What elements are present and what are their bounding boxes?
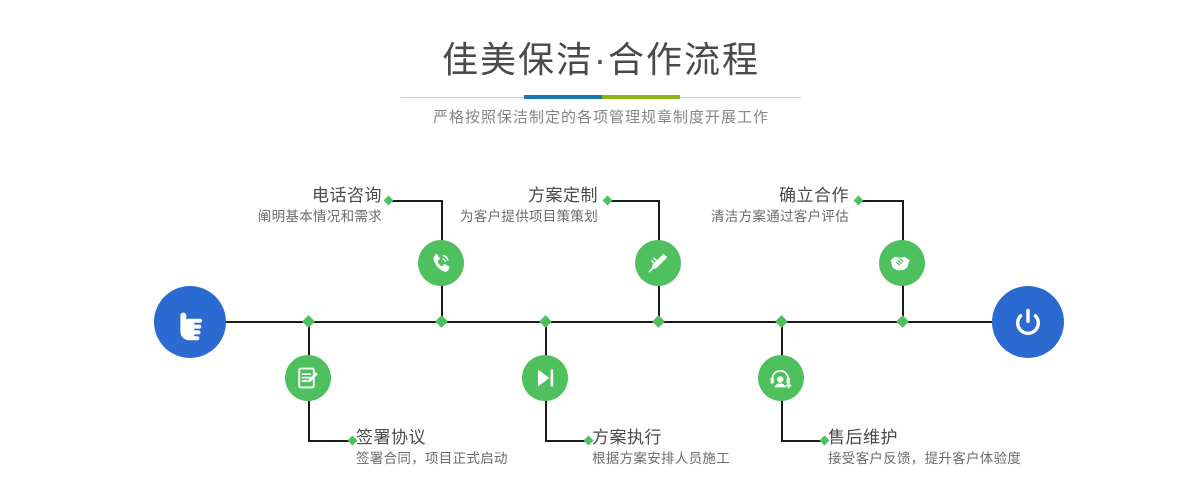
step-title-5: 确立合作 — [620, 185, 849, 207]
step-title-2: 签署协议 — [356, 427, 508, 449]
connector-horizontal-step-5 — [858, 200, 903, 202]
axis-marker-step-5 — [896, 315, 909, 328]
axis-marker-step-3 — [652, 315, 665, 328]
support-agent-icon — [767, 364, 795, 392]
axis-marker-step-6 — [775, 315, 788, 328]
connector-horizontal-step-3 — [607, 200, 659, 202]
divider-segment-green — [602, 95, 680, 99]
label-marker-step-3 — [603, 196, 613, 206]
step-label-2: 签署协议 签署合同，项目正式启动 — [356, 427, 508, 469]
step-label-6: 售后维护 接受客户反馈，提升客户体验度 — [828, 427, 1021, 469]
divider-segment-blue — [524, 95, 602, 99]
step-label-3: 方案定制 为客户提供项目策策划 — [370, 185, 598, 227]
step-icon-bubble-4[interactable] — [522, 355, 568, 401]
power-icon — [1008, 302, 1048, 342]
step-desc-2: 签署合同，项目正式启动 — [356, 449, 508, 469]
handshake-icon — [888, 249, 916, 277]
axis-marker-step-2 — [302, 315, 315, 328]
step-desc-5: 清洁方案通过客户评估 — [620, 207, 849, 227]
step-icon-bubble-1[interactable] — [418, 240, 464, 286]
timeline-end-node — [992, 286, 1064, 358]
step-title-6: 售后维护 — [828, 427, 1021, 449]
process-flow-infographic: 佳美保洁·合作流程 严格按照保洁制定的各项管理规章制度开展工作 — [0, 0, 1202, 502]
play-skip-icon — [531, 364, 559, 392]
step-icon-bubble-2[interactable] — [285, 355, 331, 401]
step-icon-bubble-6[interactable] — [758, 355, 804, 401]
step-desc-4: 根据方案安排人员施工 — [592, 449, 730, 469]
page-title: 佳美保洁·合作流程 — [0, 38, 1202, 82]
timeline-start-node — [154, 286, 226, 358]
step-label-1: 电话咨询 阐明基本情况和需求 — [150, 185, 382, 227]
axis-marker-step-1 — [435, 315, 448, 328]
pointing-hand-icon — [170, 302, 210, 342]
step-label-5: 确立合作 清洁方案通过客户评估 — [620, 185, 849, 227]
step-title-4: 方案执行 — [592, 427, 730, 449]
connector-horizontal-step-2 — [308, 440, 353, 442]
axis-marker-step-4 — [539, 315, 552, 328]
pencil-ruler-icon — [644, 249, 672, 277]
step-icon-bubble-5[interactable] — [879, 240, 925, 286]
step-title-1: 电话咨询 — [150, 185, 382, 207]
step-desc-6: 接受客户反馈，提升客户体验度 — [828, 449, 1021, 469]
label-marker-step-5 — [854, 196, 864, 206]
step-desc-1: 阐明基本情况和需求 — [150, 207, 382, 227]
step-label-4: 方案执行 根据方案安排人员施工 — [592, 427, 730, 469]
connector-horizontal-step-1 — [388, 200, 442, 202]
phone-call-icon — [427, 249, 455, 277]
title-divider — [401, 95, 801, 99]
step-icon-bubble-3[interactable] — [635, 240, 681, 286]
document-edit-icon — [294, 364, 322, 392]
step-title-3: 方案定制 — [370, 185, 598, 207]
step-desc-3: 为客户提供项目策策划 — [370, 207, 598, 227]
page-subtitle: 严格按照保洁制定的各项管理规章制度开展工作 — [0, 106, 1202, 127]
